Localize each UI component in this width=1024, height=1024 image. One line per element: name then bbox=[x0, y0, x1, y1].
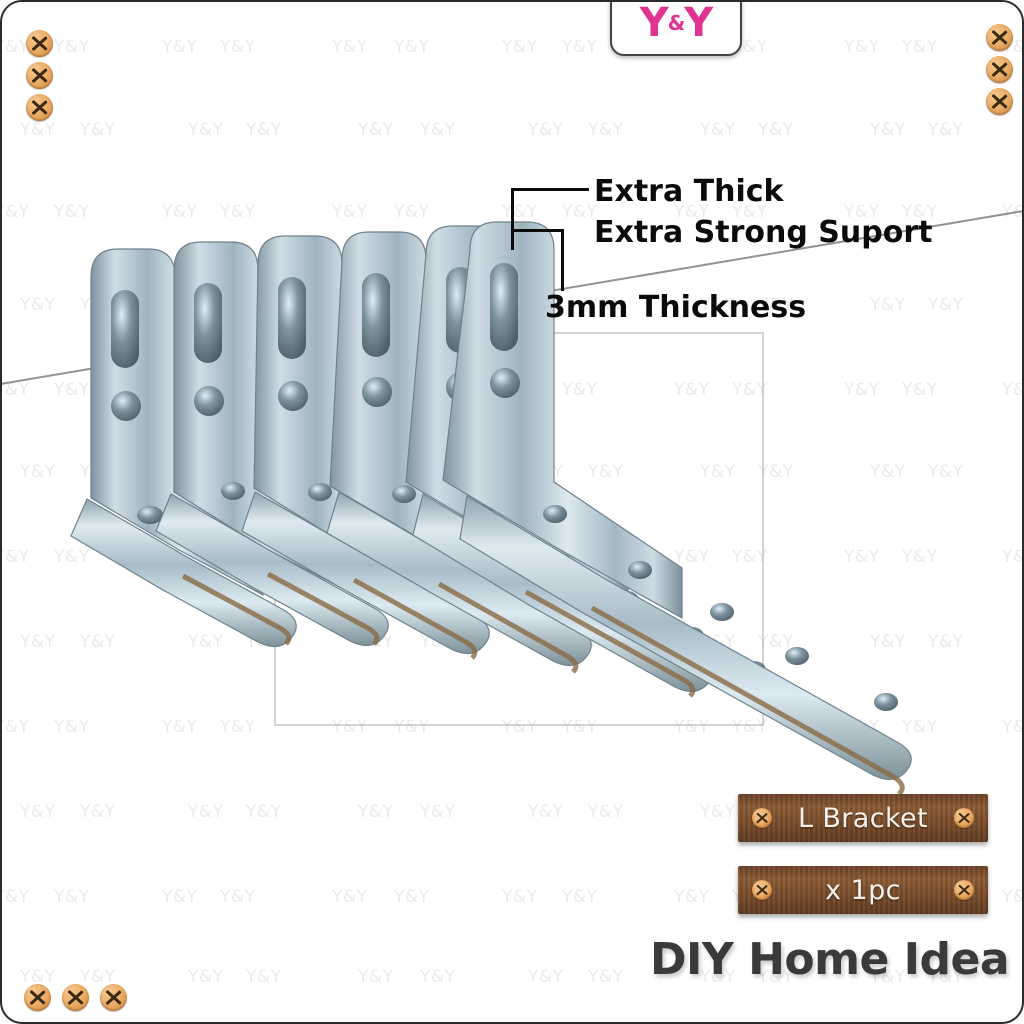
screw-icon bbox=[24, 984, 51, 1011]
screw-icon bbox=[26, 62, 53, 89]
callout-extra-strong: Extra Strong Suport bbox=[594, 215, 932, 250]
leader-line-vertical-top bbox=[511, 188, 514, 250]
callout-extra-thick: Extra Thick bbox=[594, 174, 784, 209]
product-name-label: L Bracket bbox=[798, 803, 928, 834]
screw-icon bbox=[752, 808, 772, 828]
callout-thickness: 3mm Thickness bbox=[545, 290, 806, 325]
logo-text: Y&Y bbox=[640, 0, 712, 46]
screw-icon bbox=[954, 808, 974, 828]
product-quantity-label: x 1pc bbox=[825, 875, 901, 906]
screw-icon bbox=[26, 94, 53, 121]
product-listing-card: Extra Thick Extra Strong Suport 3mm Thic… bbox=[0, 0, 1024, 1024]
product-quantity-plank: x 1pc bbox=[738, 866, 988, 914]
leader-line-horizontal-top bbox=[511, 188, 589, 191]
brand-logo-badge: Y&Y bbox=[610, 0, 742, 56]
screw-icon bbox=[954, 880, 974, 900]
screw-icon bbox=[986, 24, 1013, 51]
screw-icon bbox=[26, 30, 53, 57]
screw-icon bbox=[986, 56, 1013, 83]
brand-tagline: DIY Home Idea bbox=[650, 934, 1009, 985]
screw-icon bbox=[62, 984, 89, 1011]
leader-line-horizontal-mid bbox=[511, 229, 564, 232]
leader-line-vertical-mid bbox=[561, 229, 564, 291]
screw-icon bbox=[986, 88, 1013, 115]
screw-icon bbox=[100, 984, 127, 1011]
product-name-plank: L Bracket bbox=[738, 794, 988, 842]
screw-icon bbox=[752, 880, 772, 900]
